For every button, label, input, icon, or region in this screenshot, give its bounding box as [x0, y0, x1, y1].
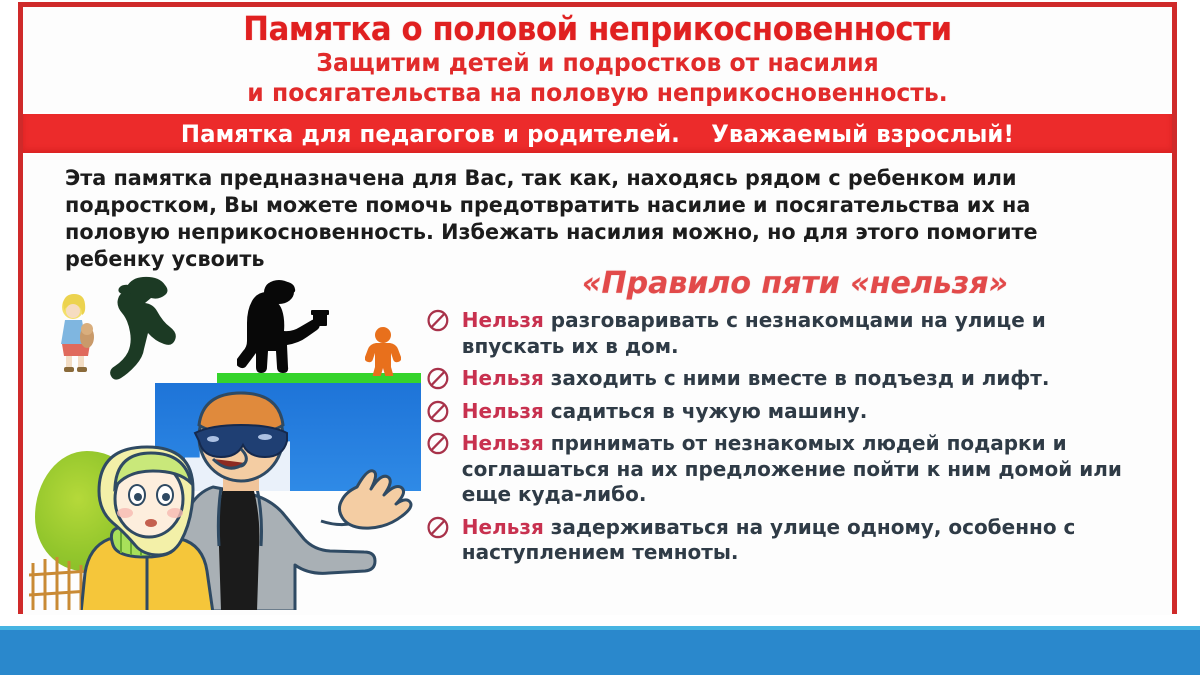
poster-subtitle-line2: и посягательства на половую неприкоснове…	[67, 77, 1128, 108]
rule-keyword: Нельзя	[462, 399, 544, 423]
small-child-silhouette-icon	[365, 326, 401, 376]
dark-stranger-silhouette-icon	[107, 273, 197, 383]
audience-banner-left: Памятка для педагогов и родителей.	[181, 120, 680, 148]
rules-section: «Правило пяти «нельзя» Нельзя разговарив…	[415, 267, 1145, 566]
rule-item-3: Нельзя садиться в чужую машину.	[415, 399, 1127, 425]
stranger-offering-gift-silhouette-icon	[237, 280, 345, 376]
rule-text: задерживаться на улице одному, особенно …	[462, 515, 1076, 565]
illustration-group	[29, 265, 421, 610]
rule-item-4: Нельзя принимать от незнакомых людей под…	[415, 431, 1127, 508]
poster-body: Эта памятка предназначена для Вас, так к…	[23, 155, 1172, 615]
intro-paragraph: Эта памятка предназначена для Вас, так к…	[65, 165, 1098, 273]
rule-item-5: Нельзя задерживаться на улице одному, ос…	[415, 515, 1127, 566]
slide-canvas: Памятка о половой неприкосновенности Защ…	[0, 0, 1200, 675]
prohibition-icon	[427, 516, 449, 539]
rule-text: принимать от незнакомых людей подарки и …	[462, 431, 1122, 506]
rule-text: заходить с ними вместе в подъезд и лифт.	[544, 366, 1050, 390]
rule-keyword: Нельзя	[462, 515, 544, 539]
rule-keyword: Нельзя	[462, 431, 544, 455]
prohibition-icon	[427, 432, 449, 455]
rule-keyword: Нельзя	[462, 308, 544, 332]
poster-frame: Памятка о половой неприкосновенности Защ…	[18, 2, 1177, 614]
audience-banner-right: Уважаемый взрослый!	[711, 120, 1014, 148]
girl-with-doll-icon	[55, 293, 97, 373]
girl-in-yellow-coat-cartoon-icon	[81, 443, 241, 610]
rule-item-2: Нельзя заходить с ними вместе в подъезд …	[415, 366, 1127, 392]
audience-banner-text: Памятка для педагогов и родителей. Уважа…	[181, 120, 1014, 148]
rule-text: разговаривать с незнакомцами на улице и …	[462, 308, 1046, 358]
prohibition-icon	[427, 367, 449, 390]
prohibition-icon	[427, 400, 449, 423]
stranger-offering-scene	[217, 271, 421, 389]
rule-keyword: Нельзя	[462, 366, 544, 390]
prohibition-icon	[427, 309, 449, 332]
poster-header: Памятка о половой неприкосновенности Защ…	[23, 7, 1172, 112]
page-title: Памятка о половой неприкосновенности	[73, 10, 1123, 47]
audience-banner: Памятка для педагогов и родителей. Уважа…	[23, 112, 1172, 155]
rules-title: «Правило пяти «нельзя»	[415, 267, 1145, 301]
rule-item-1: Нельзя разговаривать с незнакомцами на у…	[415, 308, 1127, 359]
footer-bar	[0, 630, 1200, 675]
rule-text: садиться в чужую машину.	[544, 399, 867, 423]
poster-subtitle-line1: Защитим детей и подростков от насилия	[67, 47, 1128, 78]
